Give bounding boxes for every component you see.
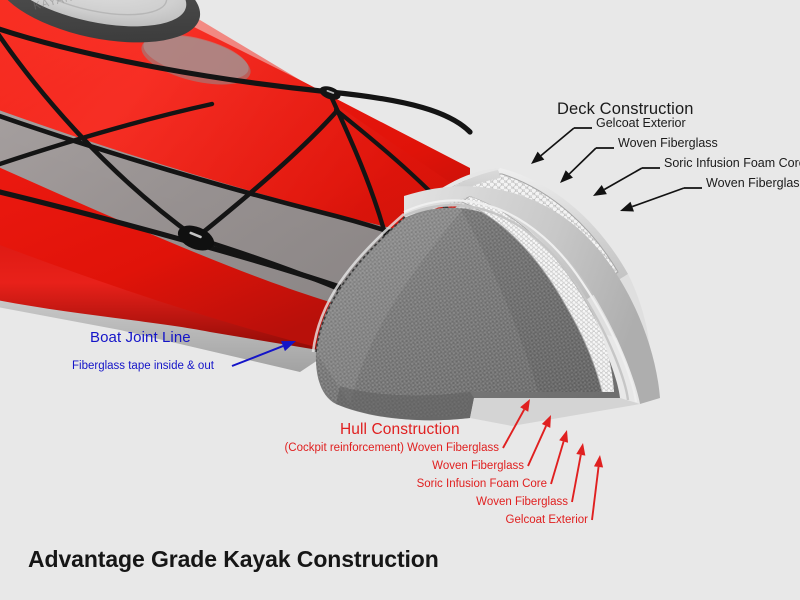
boat-joint-title: Boat Joint Line (90, 330, 191, 345)
deck-layer-label: Woven Fiberglass (618, 137, 718, 150)
hull-layer-label: Woven Fiberglass (476, 497, 568, 509)
hull-layer-label: Soric Infusion Foam Core (417, 479, 547, 491)
hull-layer-label: Gelcoat Exterior (506, 515, 588, 527)
deck-layer-label: Soric Infusion Foam Core (664, 157, 800, 170)
kayak-construction-figure: KAYAK Deck Construction Gelcoat Exterior… (0, 0, 800, 600)
boat-joint-subtitle: Fiberglass tape inside & out (72, 361, 214, 373)
deck-layer-label: Gelcoat Exterior (596, 117, 686, 130)
kayak-illustration (0, 0, 800, 600)
hull-layer-label: (Cockpit reinforcement) Woven Fiberglass (284, 443, 499, 455)
figure-caption: Advantage Grade Kayak Construction (28, 546, 439, 573)
deck-layer-label: Woven Fiberglass (706, 177, 800, 190)
hull-construction-title: Hull Construction (340, 422, 460, 438)
hull-layer-label: Woven Fiberglass (432, 461, 524, 473)
